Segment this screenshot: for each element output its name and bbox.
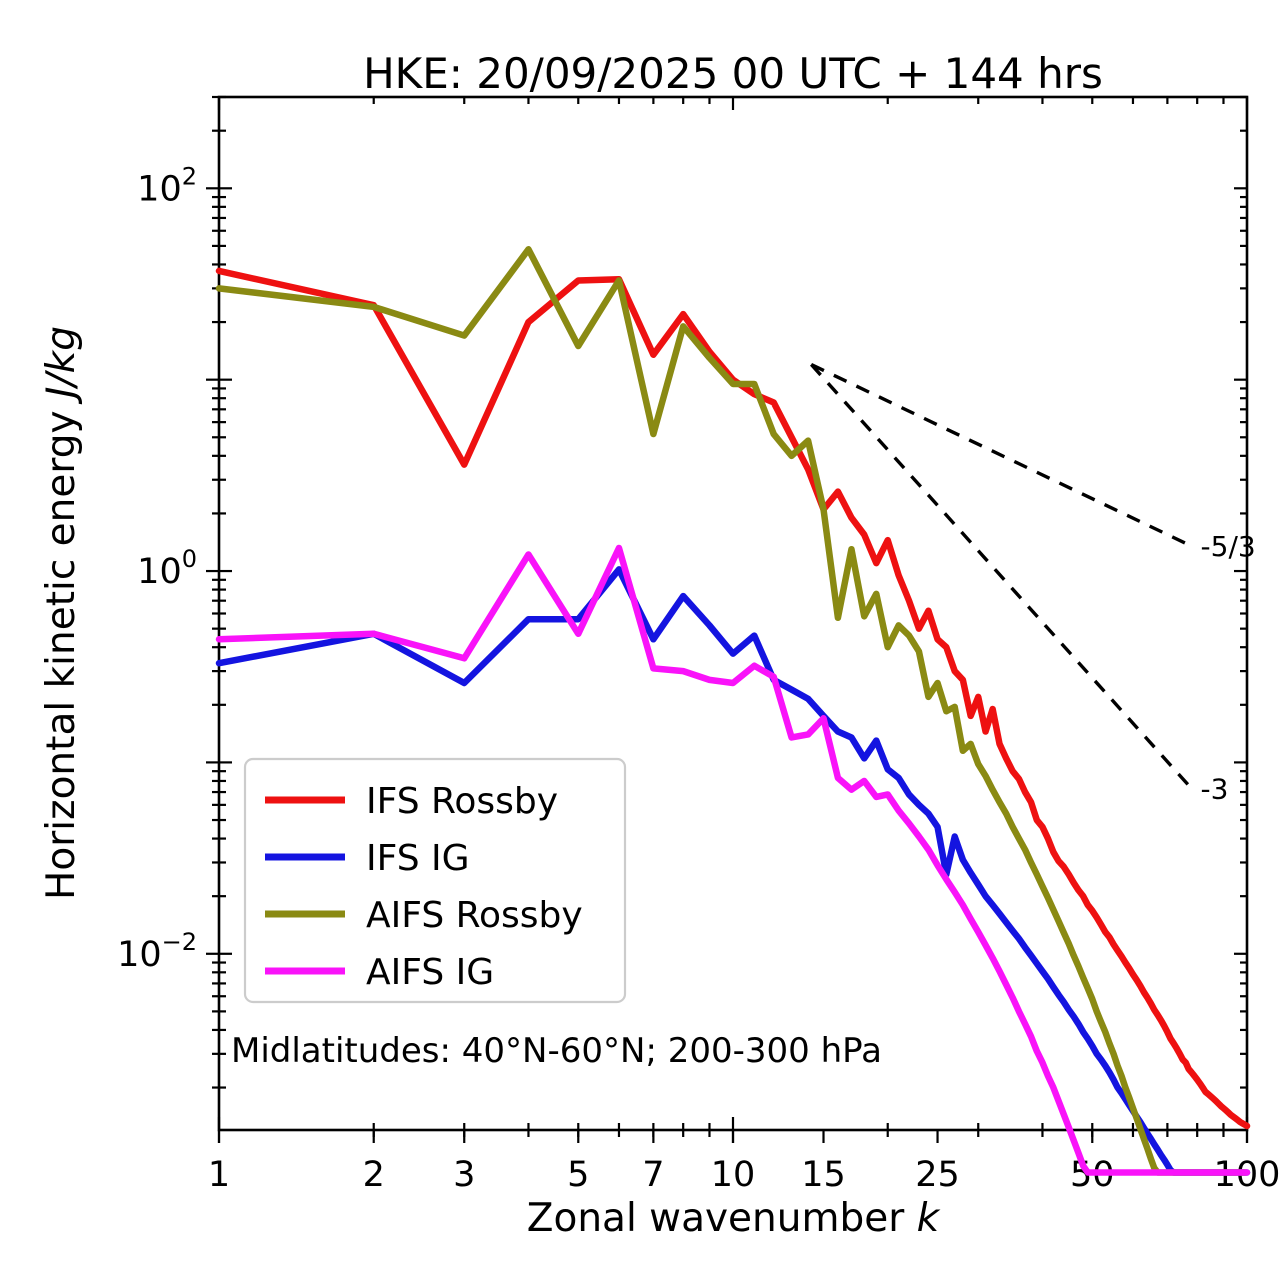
x-tick-label: 2: [363, 1155, 385, 1195]
x-tick-label: 1: [208, 1155, 230, 1195]
region-annotation: Midlatitudes: 40°N-60°N; 200-300 hPa: [231, 1031, 882, 1071]
x-axis-title-main: Zonal wavenumber: [527, 1196, 917, 1241]
legend-label-ifs-ig[interactable]: IFS IG: [366, 838, 470, 879]
reference-line-label: -3: [1201, 773, 1229, 806]
y-axis-tick-labels: 10210010−2: [117, 162, 197, 974]
y-axis-title-main: Horizontal kinetic energy: [39, 398, 84, 900]
legend-label-ifs-rossby[interactable]: IFS Rossby: [366, 781, 558, 822]
x-tick-label: 15: [801, 1155, 846, 1195]
x-tick-label: 10: [711, 1155, 756, 1195]
y-axis-title-units: J/kg: [39, 326, 84, 405]
chart-title: HKE: 20/09/2025 00 UTC + 144 hrs: [363, 49, 1103, 98]
x-tick-label: 25: [915, 1155, 960, 1195]
x-axis-title-symbol: k: [917, 1196, 941, 1241]
figure-container: HKE: 20/09/2025 00 UTC + 144 hrs 1021001…: [0, 0, 1280, 1288]
y-tick-label: 102: [137, 162, 197, 209]
x-axis-title: Zonal wavenumber k: [527, 1196, 941, 1241]
y-axis-title: Horizontal kinetic energy J/kg: [39, 326, 84, 900]
legend-label-aifs-ig[interactable]: AIFS IG: [366, 952, 494, 993]
y-tick-label: 100: [137, 545, 197, 592]
reference-line--5-3: [811, 365, 1191, 547]
legend-label-aifs-rossby[interactable]: AIFS Rossby: [366, 895, 583, 936]
y-tick-label: 10−2: [117, 928, 197, 975]
spectra-chart: HKE: 20/09/2025 00 UTC + 144 hrs 1021001…: [0, 0, 1280, 1288]
reference-line-label: -5/3: [1201, 530, 1256, 563]
x-tick-label: 5: [567, 1155, 589, 1195]
reference-line--3: [811, 365, 1191, 789]
x-tick-label: 3: [453, 1155, 475, 1195]
chart-legend[interactable]: IFS RossbyIFS IGAIFS RossbyAIFS IG: [245, 759, 625, 1002]
x-tick-label: 7: [642, 1155, 664, 1195]
